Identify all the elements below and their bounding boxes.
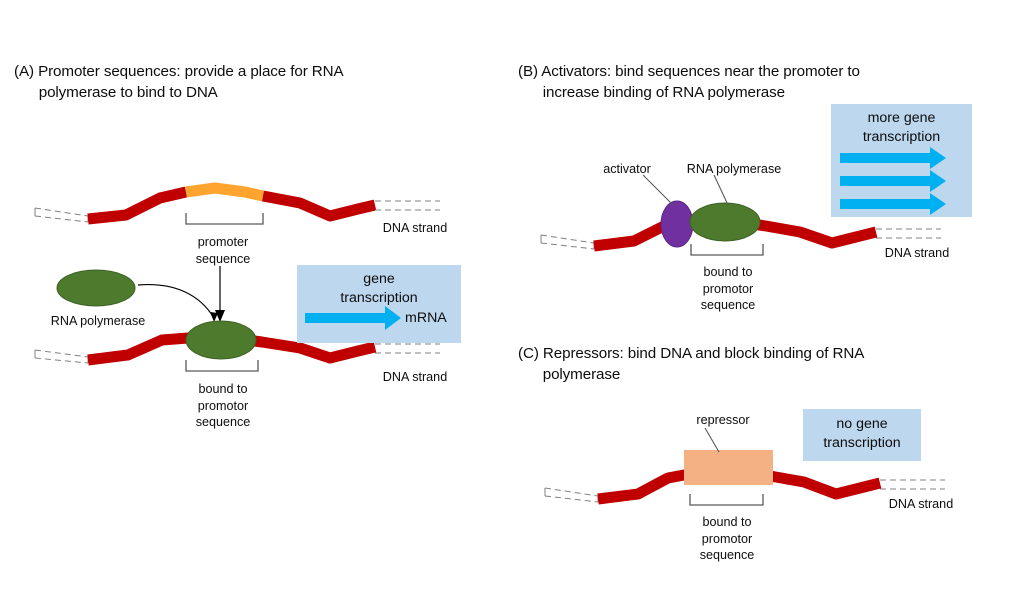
diagram-canvas: (A) Promoter sequences: provide a place … bbox=[0, 0, 1023, 605]
repressor-leader-line-c bbox=[705, 428, 719, 452]
panel-c-graphics bbox=[0, 0, 1023, 605]
repressor-label-c: repressor bbox=[683, 412, 763, 429]
dna-left-fork-c bbox=[545, 488, 598, 502]
callout-title-c: no gene transcription bbox=[803, 415, 921, 453]
dna-strand-label-c: DNA strand bbox=[876, 496, 966, 513]
dna-right-dashes-c bbox=[880, 480, 945, 489]
bound-bracket-c bbox=[690, 494, 763, 505]
repressor-c bbox=[684, 450, 773, 485]
bound-bracket-label-c: bound to promotor sequence bbox=[673, 514, 781, 564]
